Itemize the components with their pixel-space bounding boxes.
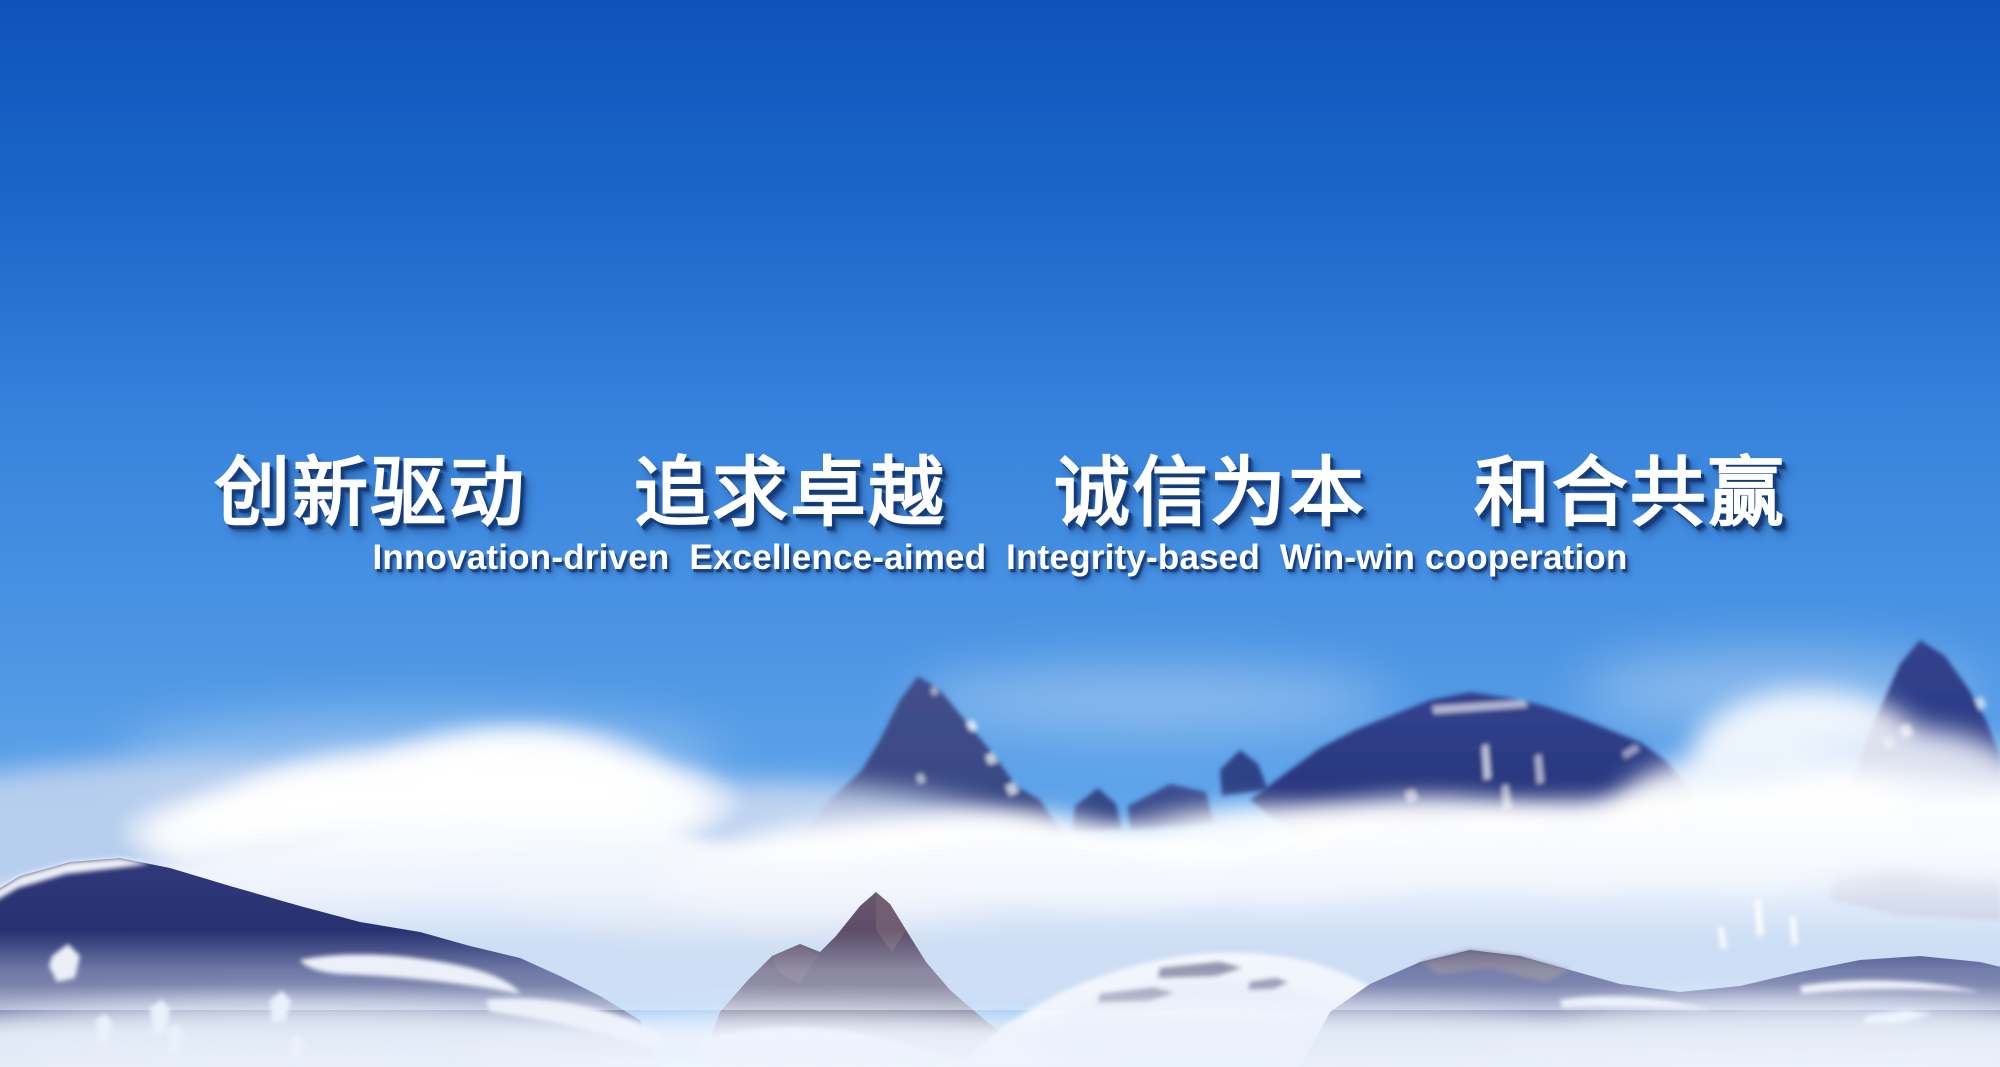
banner-hero: 创新驱动 追求卓越 诚信为本 和合共赢 Innovation-driven Ex… — [0, 0, 2000, 1067]
mountain-cloud-scene-illustration — [0, 0, 2000, 1067]
